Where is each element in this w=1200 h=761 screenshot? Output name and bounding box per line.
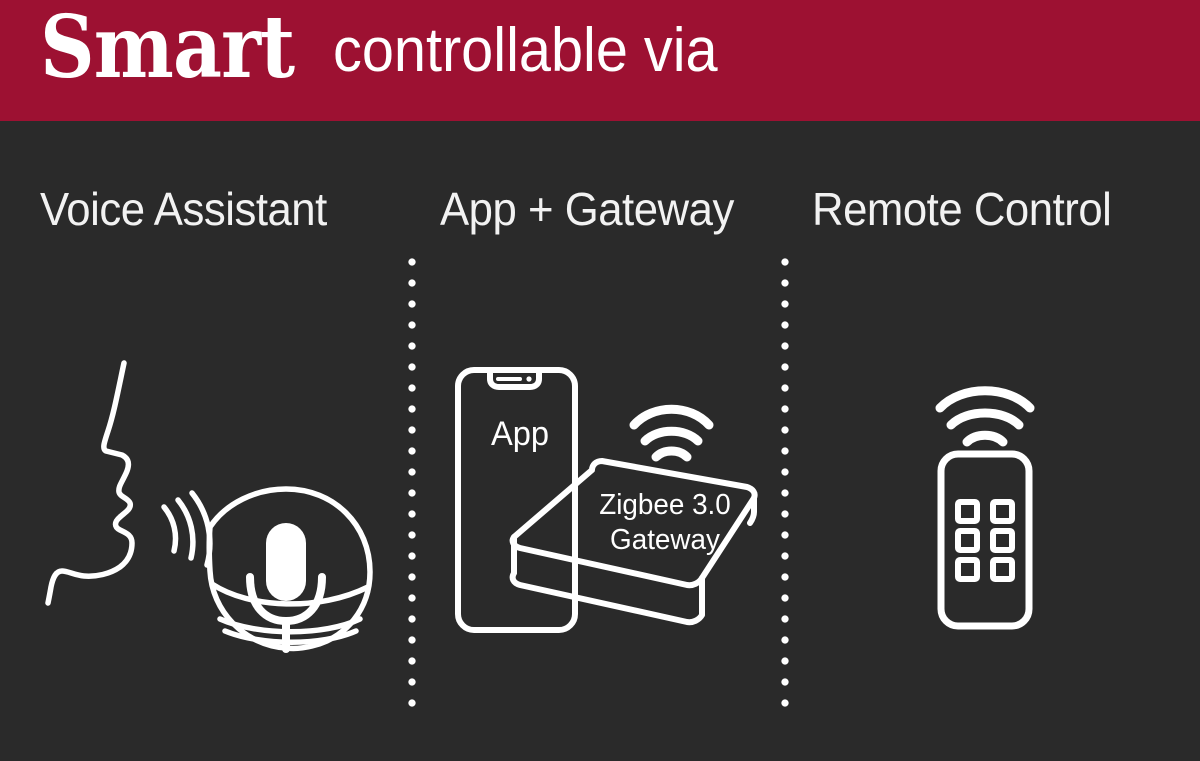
wifi-signal-icon bbox=[940, 391, 1030, 442]
infographic-root: Smartcontrollable via Voice Assistant Ap… bbox=[0, 0, 1200, 761]
remote-body-shape bbox=[941, 454, 1029, 626]
microphone-glyph-icon bbox=[266, 523, 306, 601]
page-title-rest: controllable via bbox=[333, 20, 718, 82]
remote-control-illustration bbox=[905, 380, 1085, 640]
page-title: Smartcontrollable via bbox=[40, 5, 742, 91]
voice-assistant-illustration bbox=[40, 355, 400, 655]
header-banner: Smartcontrollable via bbox=[0, 0, 1200, 121]
gateway-label-line2: Gateway bbox=[555, 523, 776, 558]
app-gateway-illustration: App Zigbee 3.0 Gateway bbox=[440, 360, 770, 645]
gateway-label-line1: Zigbee 3.0 bbox=[555, 488, 776, 523]
column-title-remote-control: Remote Control bbox=[812, 182, 1111, 236]
wifi-signal-icon bbox=[634, 409, 709, 457]
column-title-app-gateway: App + Gateway bbox=[440, 182, 734, 236]
column-title-voice-assistant: Voice Assistant bbox=[40, 182, 327, 236]
dotted-divider-left bbox=[408, 258, 416, 720]
page-title-strong: Smart bbox=[40, 5, 294, 91]
gateway-label: Zigbee 3.0 Gateway bbox=[555, 488, 776, 559]
dotted-divider-right bbox=[781, 258, 789, 720]
remote-control-with-signal-icon bbox=[905, 380, 1085, 640]
phone-screen-label: App bbox=[462, 415, 577, 454]
phone-camera-dot-icon bbox=[526, 376, 531, 381]
speaking-face-with-smart-speaker-icon bbox=[40, 355, 400, 655]
remote-button-grid bbox=[958, 502, 1012, 579]
